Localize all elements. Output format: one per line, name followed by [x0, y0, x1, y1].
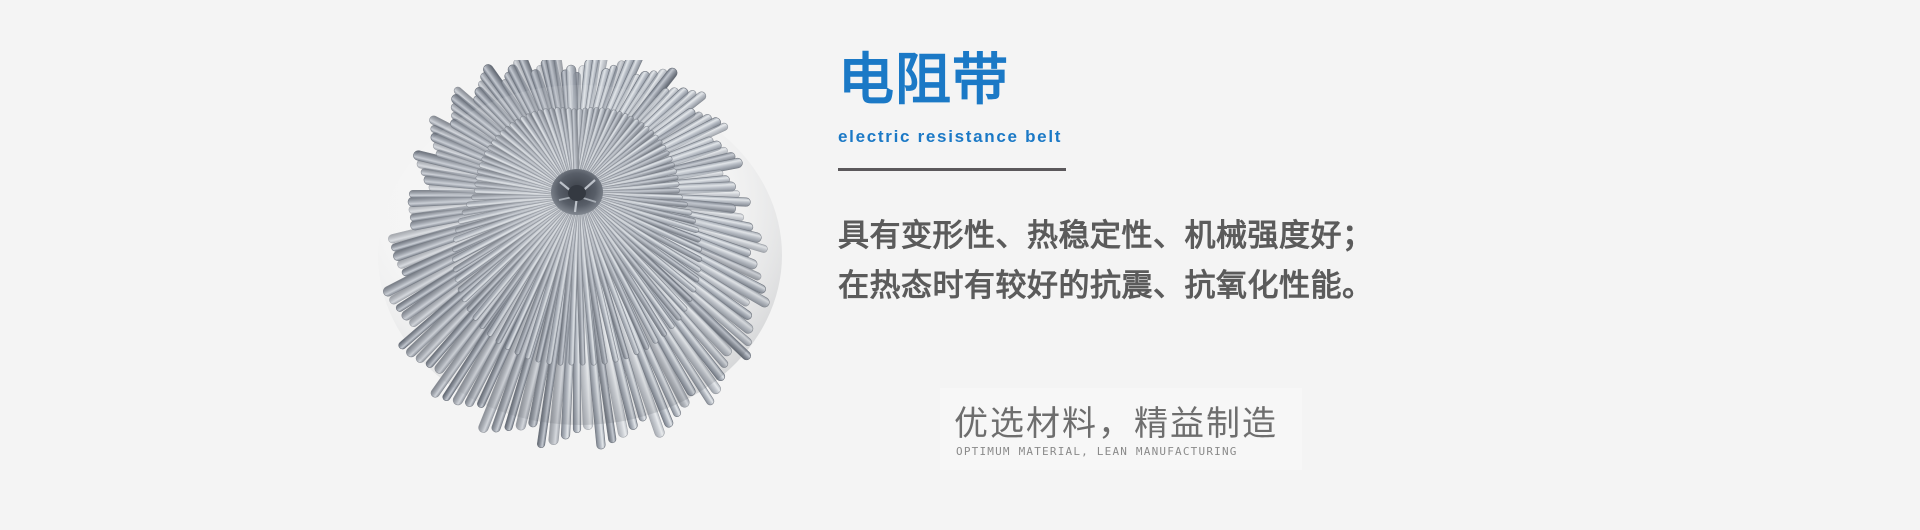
tagline-chinese: 优选材料，精益制造 — [954, 396, 1278, 445]
tagline-english: OPTIMUM MATERIAL, LEAN MANUFACTURING — [956, 445, 1238, 458]
title-divider — [838, 168, 1066, 171]
product-hub — [551, 169, 603, 215]
page-title: 电阻带 — [838, 52, 1558, 111]
page-subtitle: electric resistance belt — [838, 127, 1558, 147]
product-image — [355, 60, 795, 460]
product-banner: 电阻带 electric resistance belt 具有变形性、热稳定性、… — [0, 0, 1920, 530]
product-description: 具有变形性、热稳定性、机械强度好； 在热态时有较好的抗震、抗氧化性能。 — [838, 211, 1558, 311]
description-line-2: 在热态时有较好的抗震、抗氧化性能。 — [838, 261, 1558, 311]
tagline-block: 优选材料，精益制造 OPTIMUM MATERIAL, LEAN MANUFAC… — [940, 388, 1302, 470]
description-line-1: 具有变形性、热稳定性、机械强度好； — [838, 211, 1558, 261]
